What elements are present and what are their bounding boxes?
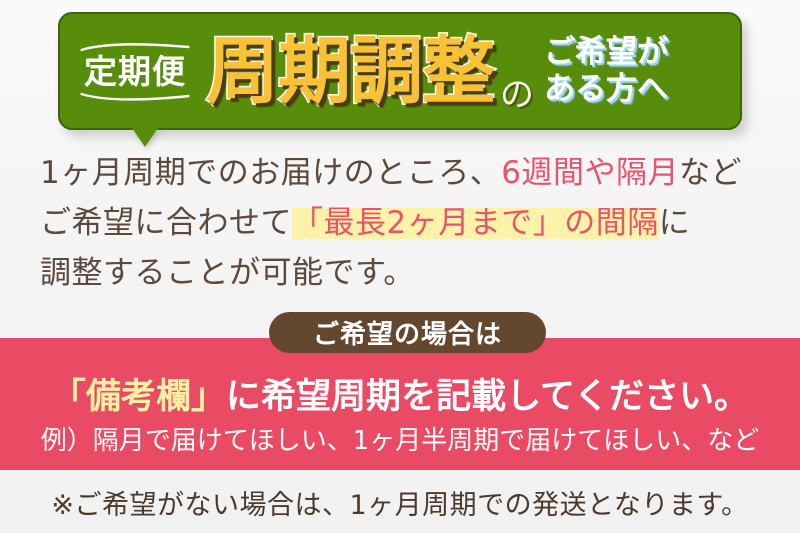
instruction-headline: 「備考欄」に希望周期を記載してください。: [0, 368, 800, 419]
instruction-headline-field: 「備考欄」: [51, 377, 226, 417]
request-case-pill-label: ご希望の場合は: [313, 314, 502, 351]
header-subtitle-line1: ご希望が: [544, 35, 668, 70]
instruction-band: 「備考欄」に希望周期を記載してください。 例）隔月で届けてほしい、1ヶ月半周期で…: [0, 338, 800, 470]
description-line-1-accent: 6週間や隔月: [501, 155, 679, 191]
description-paragraph: 1ヶ月周期でのお届けのところ、6週間や隔月など ご希望に合わせて「最長2ヶ月まで…: [40, 148, 770, 299]
promo-banner: 定期便 周期調整 の ご希望が ある方へ 1ヶ月周期でのお届けのところ、6週間や…: [0, 0, 800, 533]
description-line-2-c: に: [659, 205, 691, 241]
description-line-1-a: 1ヶ月周期でのお届けのところ、: [40, 155, 501, 191]
wavy-rule-bottom-icon: [80, 90, 190, 102]
description-line-1: 1ヶ月周期でのお届けのところ、6週間や隔月など: [40, 148, 770, 198]
subscription-badge: 定期便: [80, 42, 190, 101]
instruction-example: 例）隔月で届けてほしい、1ヶ月半周期で届けてほしい、など: [0, 420, 800, 457]
request-case-pill: ご希望の場合は: [269, 312, 546, 353]
description-line-2: ご希望に合わせて「最長2ヶ月まで」の間隔に: [40, 198, 770, 248]
header-subtitle-line2: ある方へ: [544, 72, 668, 107]
header-callout: 定期便 周期調整 の ご希望が ある方へ: [58, 12, 742, 130]
callout-tail-icon: [132, 128, 158, 147]
header-title-main: 周期調整: [206, 35, 494, 108]
header-content: 定期便 周期調整 の ご希望が ある方へ: [58, 12, 742, 130]
header-title-particle: の: [500, 78, 534, 130]
description-line-3: 調整することが可能です。: [40, 248, 770, 298]
subscription-badge-label: 定期便: [84, 52, 186, 91]
instruction-headline-d: を記載してください。: [401, 377, 749, 417]
footer-note: ※ご希望がない場合は、1ヶ月周期での発送となります。: [0, 483, 800, 522]
description-line-1-c: など: [679, 155, 742, 191]
description-line-2-a: ご希望に合わせて: [40, 205, 292, 241]
instruction-headline-cycle: 希望周期: [261, 377, 401, 417]
header-subtitle: ご希望が ある方へ: [544, 35, 668, 106]
wavy-rule-top-icon: [80, 41, 190, 53]
description-line-2-highlight: 「最長2ヶ月まで」の間隔: [292, 205, 659, 241]
instruction-headline-b: に: [226, 377, 261, 417]
